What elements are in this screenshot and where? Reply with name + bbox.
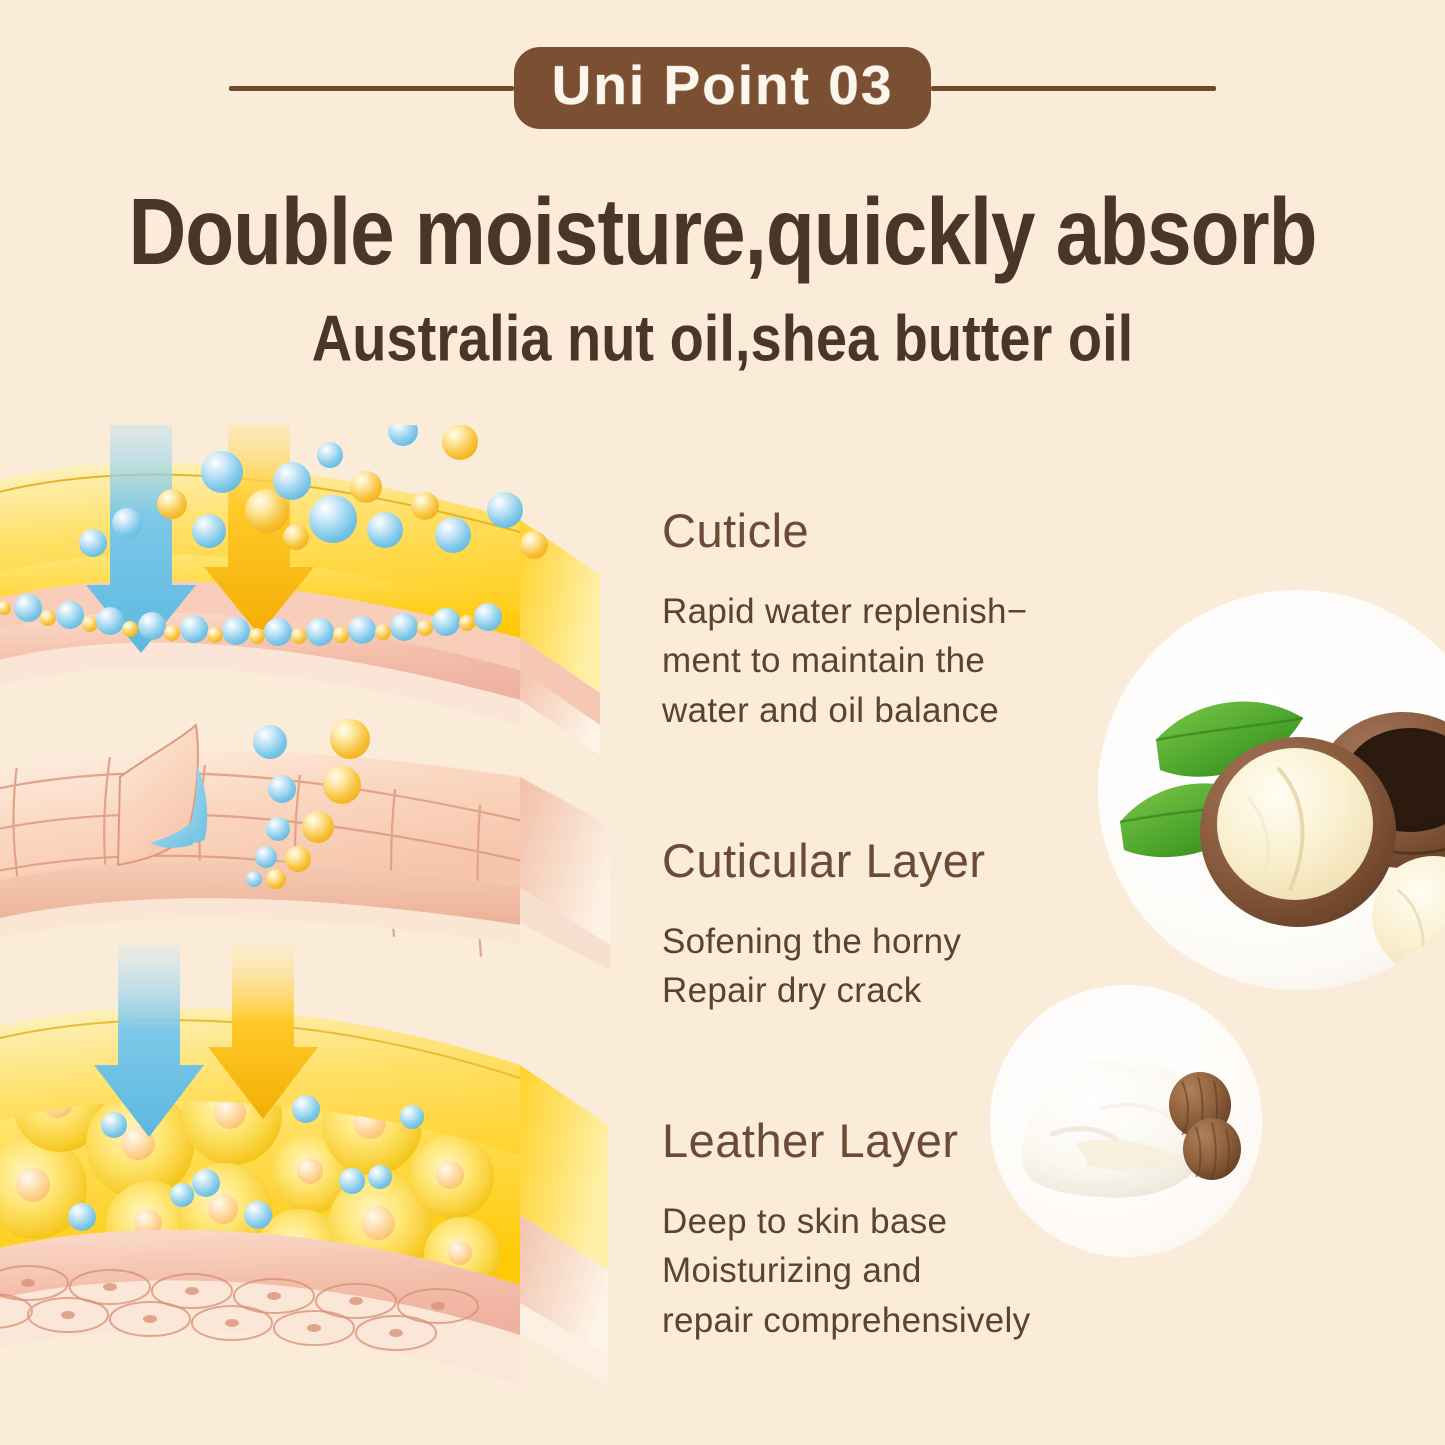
infographic-page: Uni Point 03 Double moisture,quickly abs… — [0, 0, 1445, 1445]
header-banner: Uni Point 03 — [0, 38, 1445, 138]
body-line: Moisturizing and — [662, 1246, 1162, 1296]
leather-layer-diagram — [0, 945, 608, 1385]
skin-layer-diagrams — [0, 425, 640, 1445]
fat-cell — [410, 1135, 494, 1219]
divider-line-right — [931, 86, 1216, 91]
section-body: Rapid water replenish− ment to maintain … — [662, 587, 1162, 736]
nut-shell-front — [1200, 737, 1396, 927]
body-line: ment to maintain the — [662, 636, 1162, 686]
section-cuticle: Cuticle Rapid water replenish− ment to m… — [662, 505, 1162, 736]
section-heading: Cuticular Layer — [662, 835, 1162, 887]
shea-butter-photo — [990, 985, 1262, 1257]
sub-title: Australia nut oil,shea butter oil — [0, 300, 1445, 375]
uni-point-badge: Uni Point 03 — [514, 47, 932, 129]
cuticular-layer-diagram — [0, 719, 610, 979]
body-line: Sofening the horny — [662, 917, 1162, 967]
body-line: Rapid water replenish− — [662, 587, 1162, 637]
main-title: Double moisture,quickly absorb — [0, 178, 1445, 287]
body-line: water and oil balance — [662, 686, 1162, 736]
section-heading: Cuticle — [662, 505, 1162, 557]
shea-butter-illustration — [990, 985, 1262, 1257]
section-cuticular-layer: Cuticular Layer Sofening the horny Repai… — [662, 835, 1162, 1016]
cuticle-diagram — [0, 425, 600, 755]
skin-diagram-svg — [0, 425, 640, 1445]
body-line: repair comprehensively — [662, 1296, 1162, 1346]
divider-line-left — [229, 86, 514, 91]
